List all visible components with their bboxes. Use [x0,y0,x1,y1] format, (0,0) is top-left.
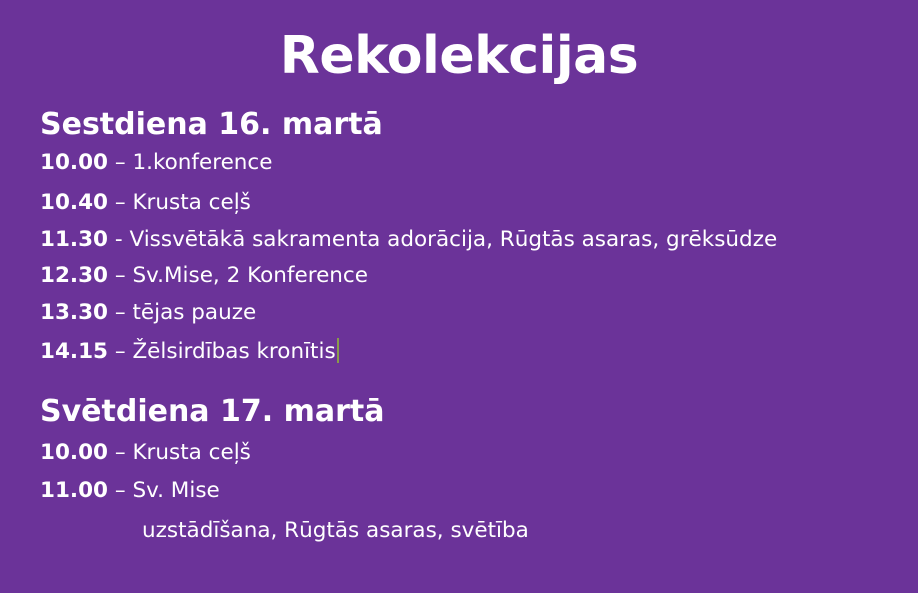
page-title: Rekolekcijas [0,28,918,85]
text-cursor-caret [337,338,339,363]
schedule-separator: – [108,339,132,364]
schedule-time: 11.00 [40,478,108,503]
schedule-text: tējas pauze [132,300,256,325]
schedule-time: 13.30 [40,300,108,325]
schedule-row: 11.00 – Sv. Mise [40,480,900,502]
schedule-time: 12.30 [40,263,108,288]
schedule-text: Krusta ceļš [132,190,250,215]
schedule-time: 14.15 [40,339,108,364]
schedule-text: Žēlsirdības kronītis [132,339,335,364]
schedule-body: Sestdiena 16. martā 10.00 – 1.konference… [40,108,900,541]
day-heading-sunday: Svētdiena 17. martā [40,395,900,430]
schedule-row: 10.00 – 1.konference [40,152,900,174]
schedule-text: Krusta ceļš [132,440,250,465]
schedule-row: 14.15 – Žēlsirdības kronītis [40,338,900,363]
schedule-text: Sv.Mise, 2 Konference [132,263,368,288]
schedule-row: 12.30 – Sv.Mise, 2 Konference [40,265,900,287]
schedule-separator: – [108,263,132,288]
schedule-row: 13.30 – tējas pauze [40,302,900,324]
schedule-row: 10.40 – Krusta ceļš [40,192,900,214]
day-heading-saturday: Sestdiena 16. martā [40,108,900,143]
schedule-list-sunday: 10.00 – Krusta ceļš 11.00 – Sv. Mise [40,442,900,502]
schedule-time: 10.00 [40,150,108,175]
schedule-row: 10.00 – Krusta ceļš [40,442,900,464]
schedule-time: 10.00 [40,440,108,465]
schedule-separator: – [108,478,132,503]
schedule-time: 11.30 [40,227,108,252]
schedule-continuation-line: uzstādīšana, Rūgtās asaras, svētība [40,520,900,542]
schedule-text: 1.konference [132,150,272,175]
schedule-row: 11.30 - Vissvētākā sakramenta adorācija,… [40,229,900,251]
schedule-separator: - [108,227,129,252]
schedule-list-saturday: 10.00 – 1.konference 10.40 – Krusta ceļš… [40,152,900,364]
schedule-separator: – [108,440,132,465]
slide-canvas: Rekolekcijas Sestdiena 16. martā 10.00 –… [0,0,918,593]
schedule-separator: – [108,150,132,175]
schedule-text: Sv. Mise [132,478,219,503]
schedule-text: Vissvētākā sakramenta adorācija, Rūgtās … [129,227,777,252]
schedule-time: 10.40 [40,190,108,215]
schedule-separator: – [108,300,132,325]
schedule-separator: – [108,190,132,215]
